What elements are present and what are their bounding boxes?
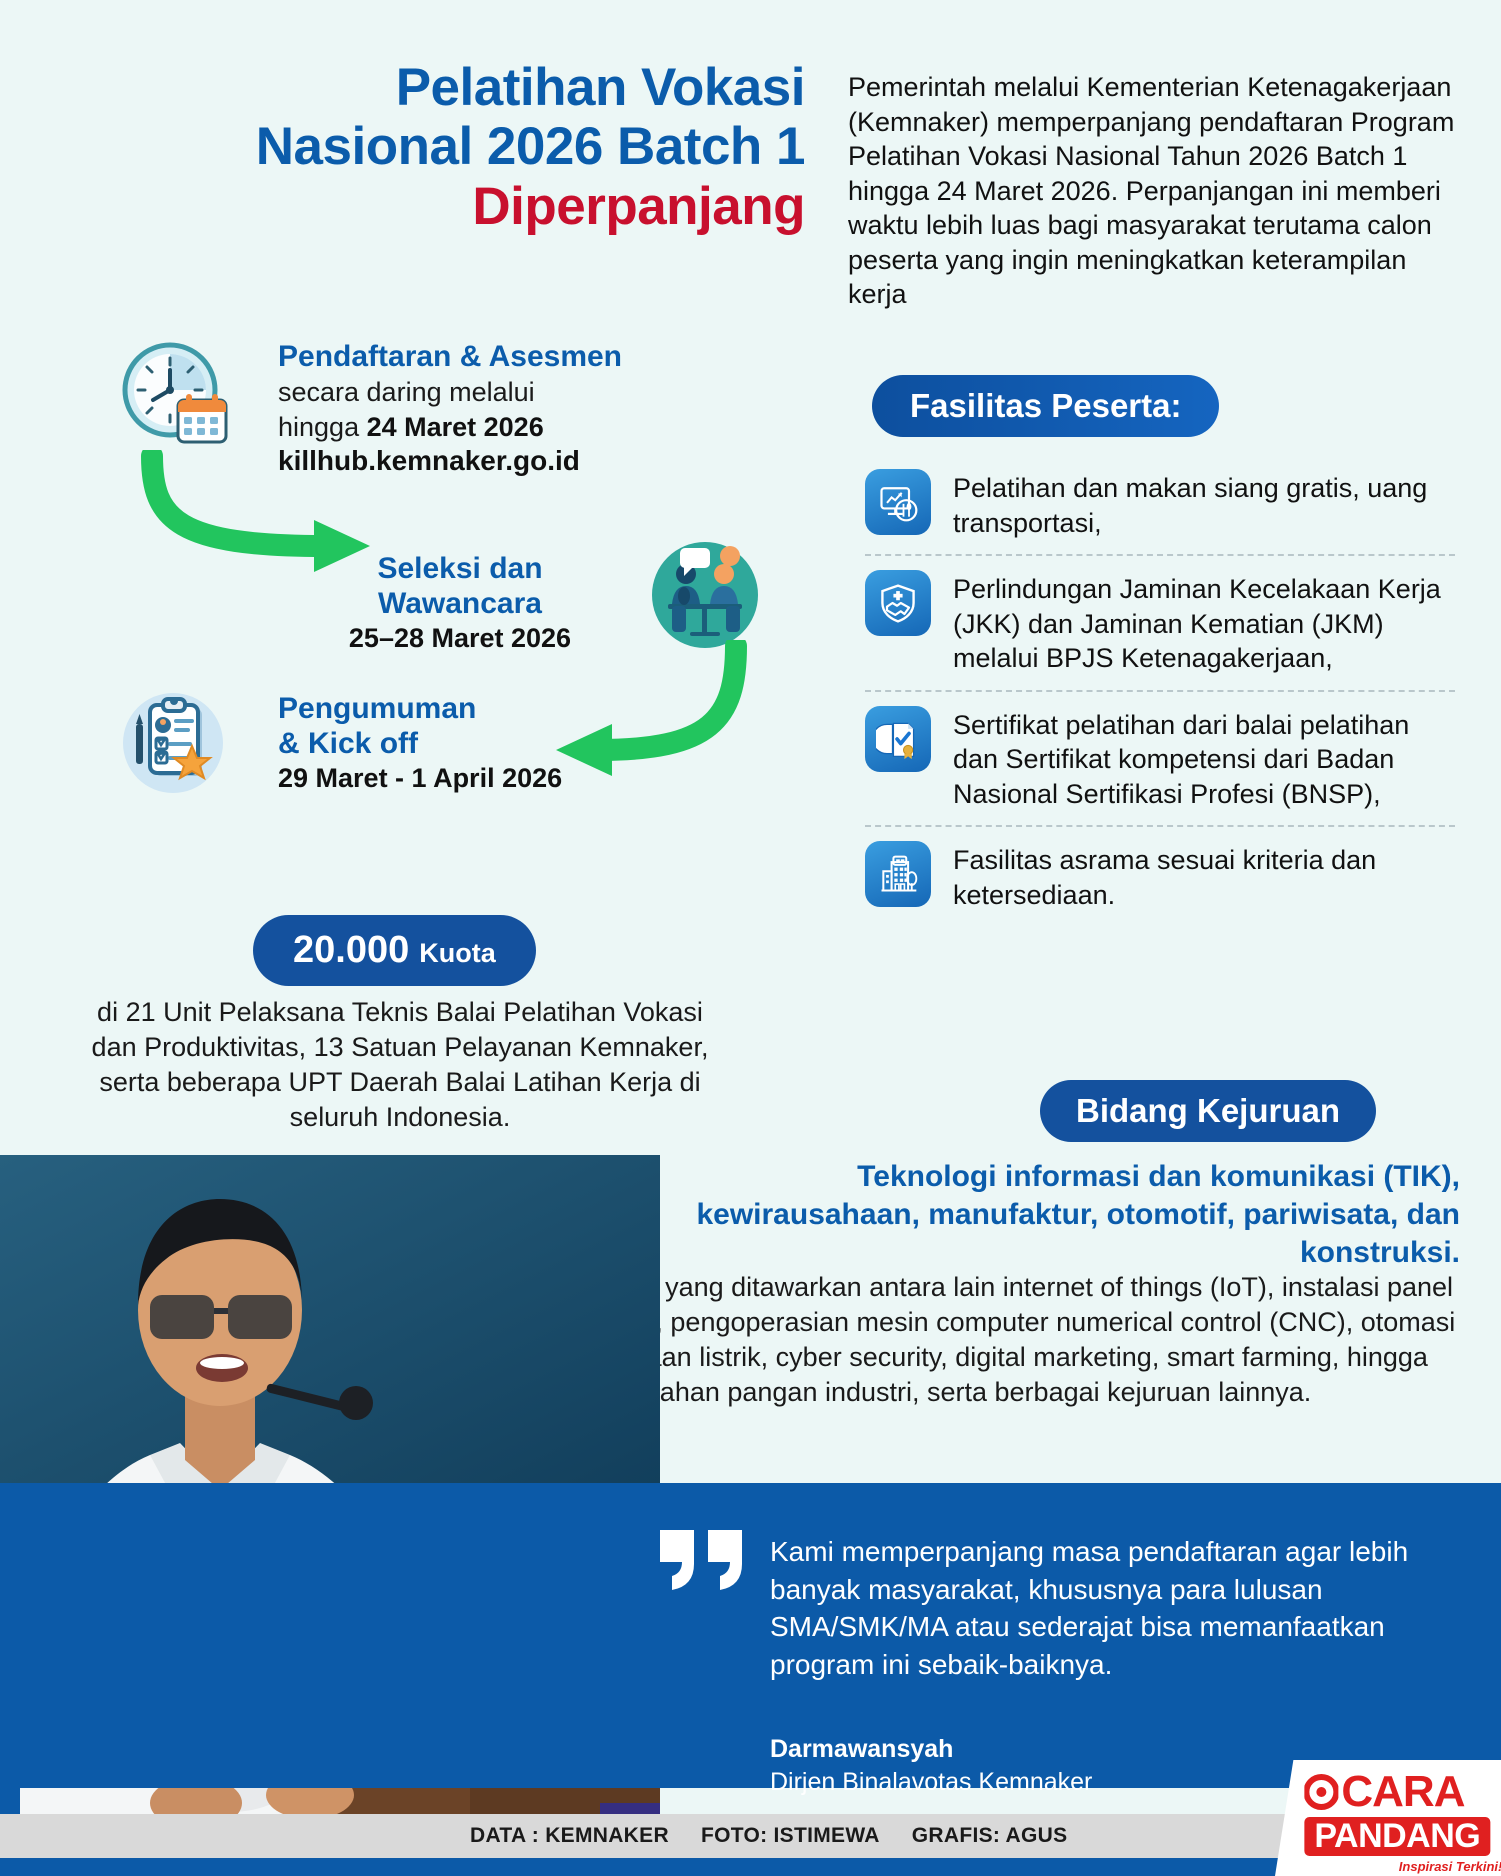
cara-pandang-logo: CARA PANDANG Inspirasi Terkini!	[1275, 1760, 1501, 1876]
list-item: Sertifikat pelatihan dari balai pelatiha…	[865, 690, 1455, 826]
list-item: Perlindungan Jaminan Kecelakaan Kerja (J…	[865, 554, 1455, 690]
interview-icon	[650, 540, 760, 650]
clock-calendar-icon	[120, 340, 230, 450]
credit-data: DATA : KEMNAKER	[470, 1824, 669, 1848]
facility-text: Perlindungan Jaminan Kecelakaan Kerja (J…	[953, 570, 1455, 676]
quote-author-name: Darmawansyah	[770, 1735, 953, 1764]
logo-tagline: Inspirasi Terkini!	[1304, 1859, 1501, 1874]
quota-number: 20.000	[293, 929, 409, 972]
step1-line1: secara daring melalui	[278, 375, 738, 410]
title-line-3: Diperpanjang	[60, 177, 805, 236]
facility-text: Pelatihan dan makan siang gratis, uang t…	[953, 469, 1455, 540]
title-line-2: Nasional 2026 Batch 1	[60, 117, 805, 176]
shield-handshake-icon	[865, 570, 931, 636]
step1-line2: hingga 24 Maret 2026	[278, 410, 738, 445]
page-title: Pelatihan Vokasi Nasional 2026 Batch 1 D…	[60, 58, 805, 236]
intro-paragraph: Pemerintah melalui Kementerian Ketenagak…	[848, 70, 1468, 312]
timeline-step-3: Pengumuman & Kick off 29 Maret - 1 April…	[278, 692, 728, 796]
quote-mark-icon	[660, 1530, 752, 1588]
facility-text: Fasilitas asrama sesuai kriteria dan ket…	[953, 841, 1455, 912]
logo-bottom-text: PANDANG	[1304, 1817, 1490, 1856]
credit-foto: FOTO: ISTIMEWA	[701, 1824, 880, 1848]
infographic-page: Pelatihan Vokasi Nasional 2026 Batch 1 D…	[0, 0, 1501, 1876]
step1-prefix: hingga	[278, 412, 367, 442]
quota-description: di 21 Unit Pelaksana Teknis Balai Pelati…	[85, 995, 715, 1135]
facilities-list: Pelatihan dan makan siang gratis, uang t…	[865, 455, 1455, 926]
header: Pelatihan Vokasi Nasional 2026 Batch 1 D…	[0, 0, 1501, 340]
certificate-icon	[865, 706, 931, 772]
facilities-badge: Fasilitas Peserta:	[872, 375, 1219, 437]
list-item: Fasilitas asrama sesuai kriteria dan ket…	[865, 825, 1455, 926]
bidang-headline: Teknologi informasi dan komunikasi (TIK)…	[640, 1158, 1460, 1271]
step1-heading: Pendaftaran & Asesmen	[278, 340, 738, 375]
clipboard-star-icon	[118, 688, 228, 798]
step3-heading-line1: Pengumuman	[278, 692, 728, 727]
training-meal-icon	[865, 469, 931, 535]
quota-label: Kuota	[419, 938, 496, 969]
logo-cara-row: CARA	[1304, 1770, 1501, 1814]
quote-author-role: Dirjen Binalavotas Kemnaker	[770, 1768, 1092, 1797]
step2-heading-line1: Seleksi dan	[300, 552, 620, 587]
title-line-1: Pelatihan Vokasi	[60, 58, 805, 117]
list-item: Pelatihan dan makan siang gratis, uang t…	[865, 455, 1455, 554]
dormitory-building-icon	[865, 841, 931, 907]
footer-credits: DATA : KEMNAKER FOTO: ISTIMEWA GRAFIS: A…	[0, 1814, 1501, 1858]
at-circle-icon	[1304, 1773, 1338, 1811]
credit-grafis: GRAFIS: AGUS	[912, 1824, 1068, 1848]
bidang-kejuruan-badge: Bidang Kejuruan	[1040, 1080, 1376, 1142]
logo-top-text: CARA	[1341, 1770, 1464, 1814]
facility-text: Sertifikat pelatihan dari balai pelatiha…	[953, 706, 1455, 812]
step1-date: 24 Maret 2026	[367, 412, 544, 442]
quote-text: Kami memperpanjang masa pendaftaran agar…	[770, 1533, 1430, 1683]
step2-heading-line2: Wawancara	[300, 587, 620, 622]
step3-date: 29 Maret - 1 April 2026	[278, 761, 728, 796]
quota-badge: 20.000 Kuota	[253, 915, 536, 986]
step3-heading-line2: & Kick off	[278, 727, 728, 762]
